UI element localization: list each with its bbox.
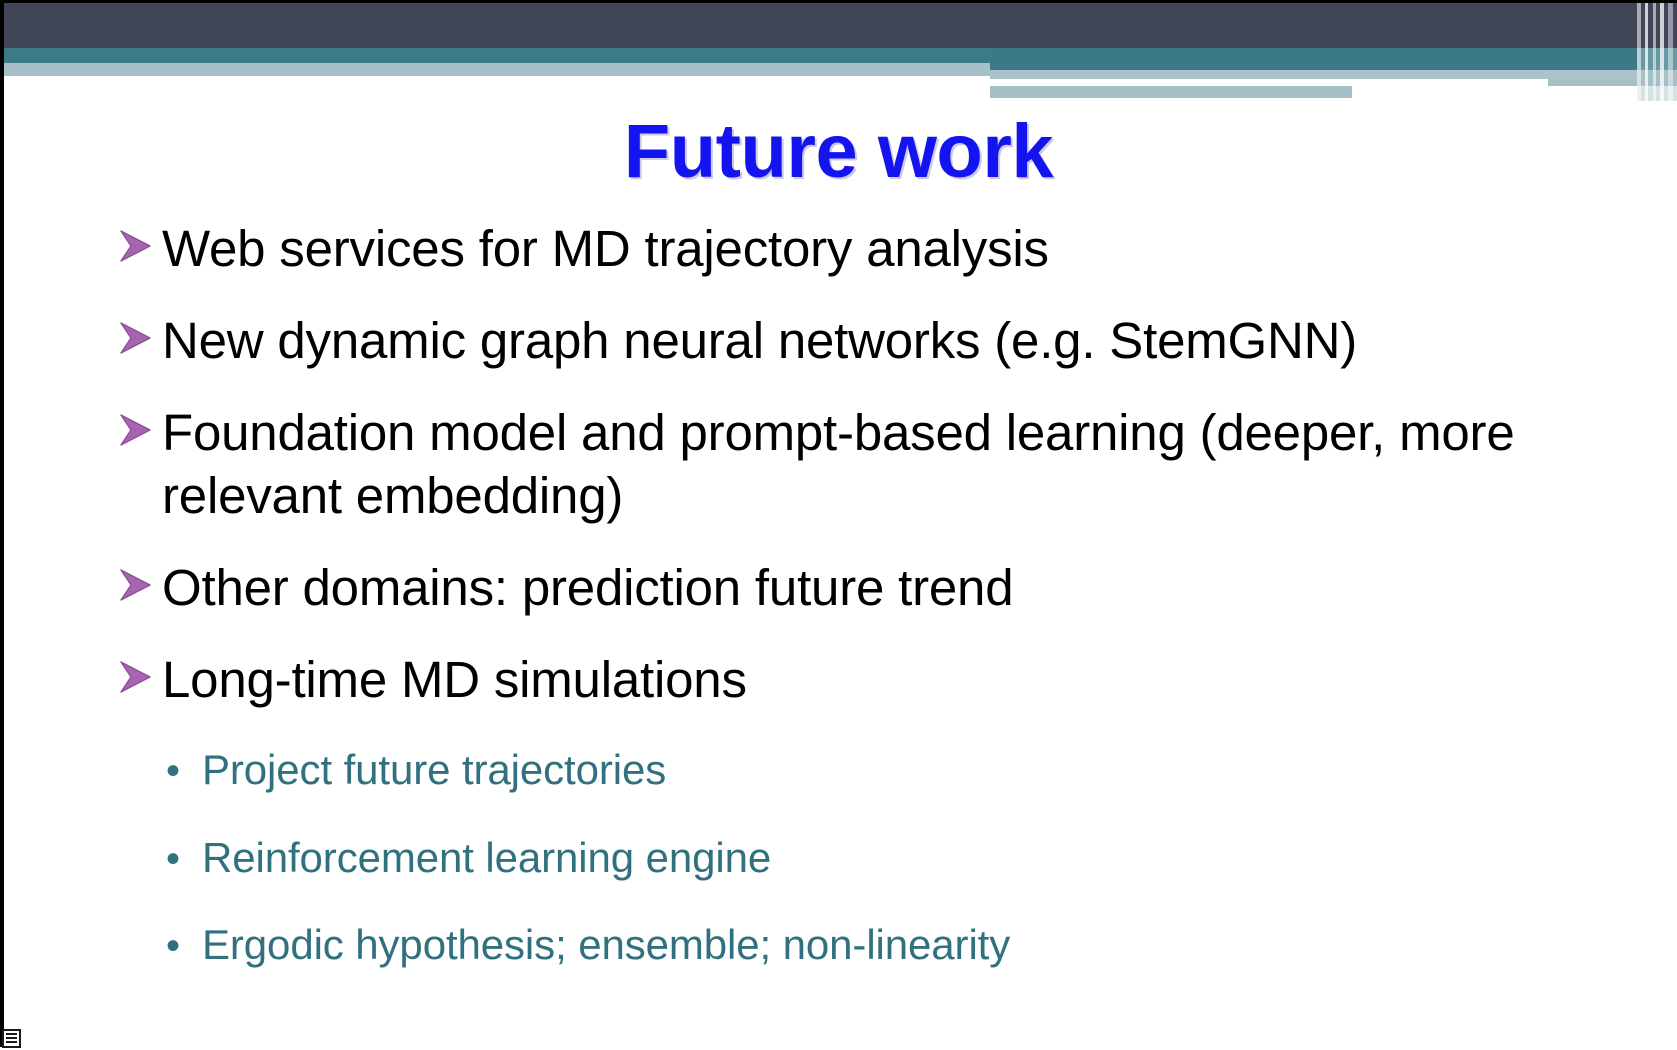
header-vertical-stripe-1 — [1637, 3, 1641, 101]
dot-bullet-icon: • — [166, 926, 202, 966]
header-pale-band-left — [4, 63, 990, 76]
sub-bullet-text: Ergodic hypothesis; ensemble; non-linear… — [202, 920, 1598, 970]
sub-bullet-item: • Project future trajectories — [166, 745, 1598, 795]
document-thumbnail-icon[interactable] — [2, 1029, 21, 1048]
arrowhead-bullet-icon — [118, 658, 162, 696]
slide-body: Web services for MD trajectory analysis … — [118, 218, 1598, 970]
sub-bullet-item: • Reinforcement learning engine — [166, 833, 1598, 883]
dot-bullet-icon: • — [166, 839, 202, 879]
header-white-gap — [990, 79, 1548, 86]
bullet-text: Long-time MD simulations — [162, 649, 1598, 711]
bullet-text: Other domains: prediction future trend — [162, 557, 1598, 619]
arrowhead-bullet-icon — [118, 319, 162, 357]
arrowhead-bullet-icon — [118, 566, 162, 604]
bullet-item: Other domains: prediction future trend — [118, 557, 1598, 619]
header-teal-band-left — [4, 48, 990, 63]
slide-title: Future work — [0, 112, 1677, 192]
dot-bullet-icon: • — [166, 751, 202, 791]
bullet-item: Web services for MD trajectory analysis — [118, 218, 1598, 280]
header-vertical-stripe-3 — [1653, 3, 1656, 101]
arrowhead-bullet-icon — [118, 411, 162, 449]
header-pale-band-right-upper — [990, 70, 1677, 79]
bullet-item: Long-time MD simulations — [118, 649, 1598, 711]
header-navy-band — [4, 3, 1677, 48]
header-teal-band-right — [990, 48, 1677, 70]
arrowhead-bullet-icon — [118, 227, 162, 265]
header-vertical-stripe-4 — [1660, 3, 1664, 101]
bullet-text: Web services for MD trajectory analysis — [162, 218, 1598, 280]
header-vertical-stripe-2 — [1645, 3, 1648, 101]
sub-bullet-text: Project future trajectories — [202, 745, 1598, 795]
header-pale-band-step — [990, 86, 1352, 98]
bullet-text: New dynamic graph neural networks (e.g. … — [162, 310, 1598, 372]
sub-bullet-text: Reinforcement learning engine — [202, 833, 1598, 883]
sub-bullet-list: • Project future trajectories • Reinforc… — [118, 745, 1598, 970]
bullet-text: Foundation model and prompt-based learni… — [162, 402, 1598, 526]
bullet-item: New dynamic graph neural networks (e.g. … — [118, 310, 1598, 372]
bullet-item: Foundation model and prompt-based learni… — [118, 402, 1598, 526]
header-vertical-stripe-5 — [1668, 3, 1673, 101]
header-white-step — [1352, 86, 1677, 98]
presentation-slide: Future work Web services for MD trajecto… — [0, 0, 1677, 1050]
sub-bullet-item: • Ergodic hypothesis; ensemble; non-line… — [166, 920, 1598, 970]
